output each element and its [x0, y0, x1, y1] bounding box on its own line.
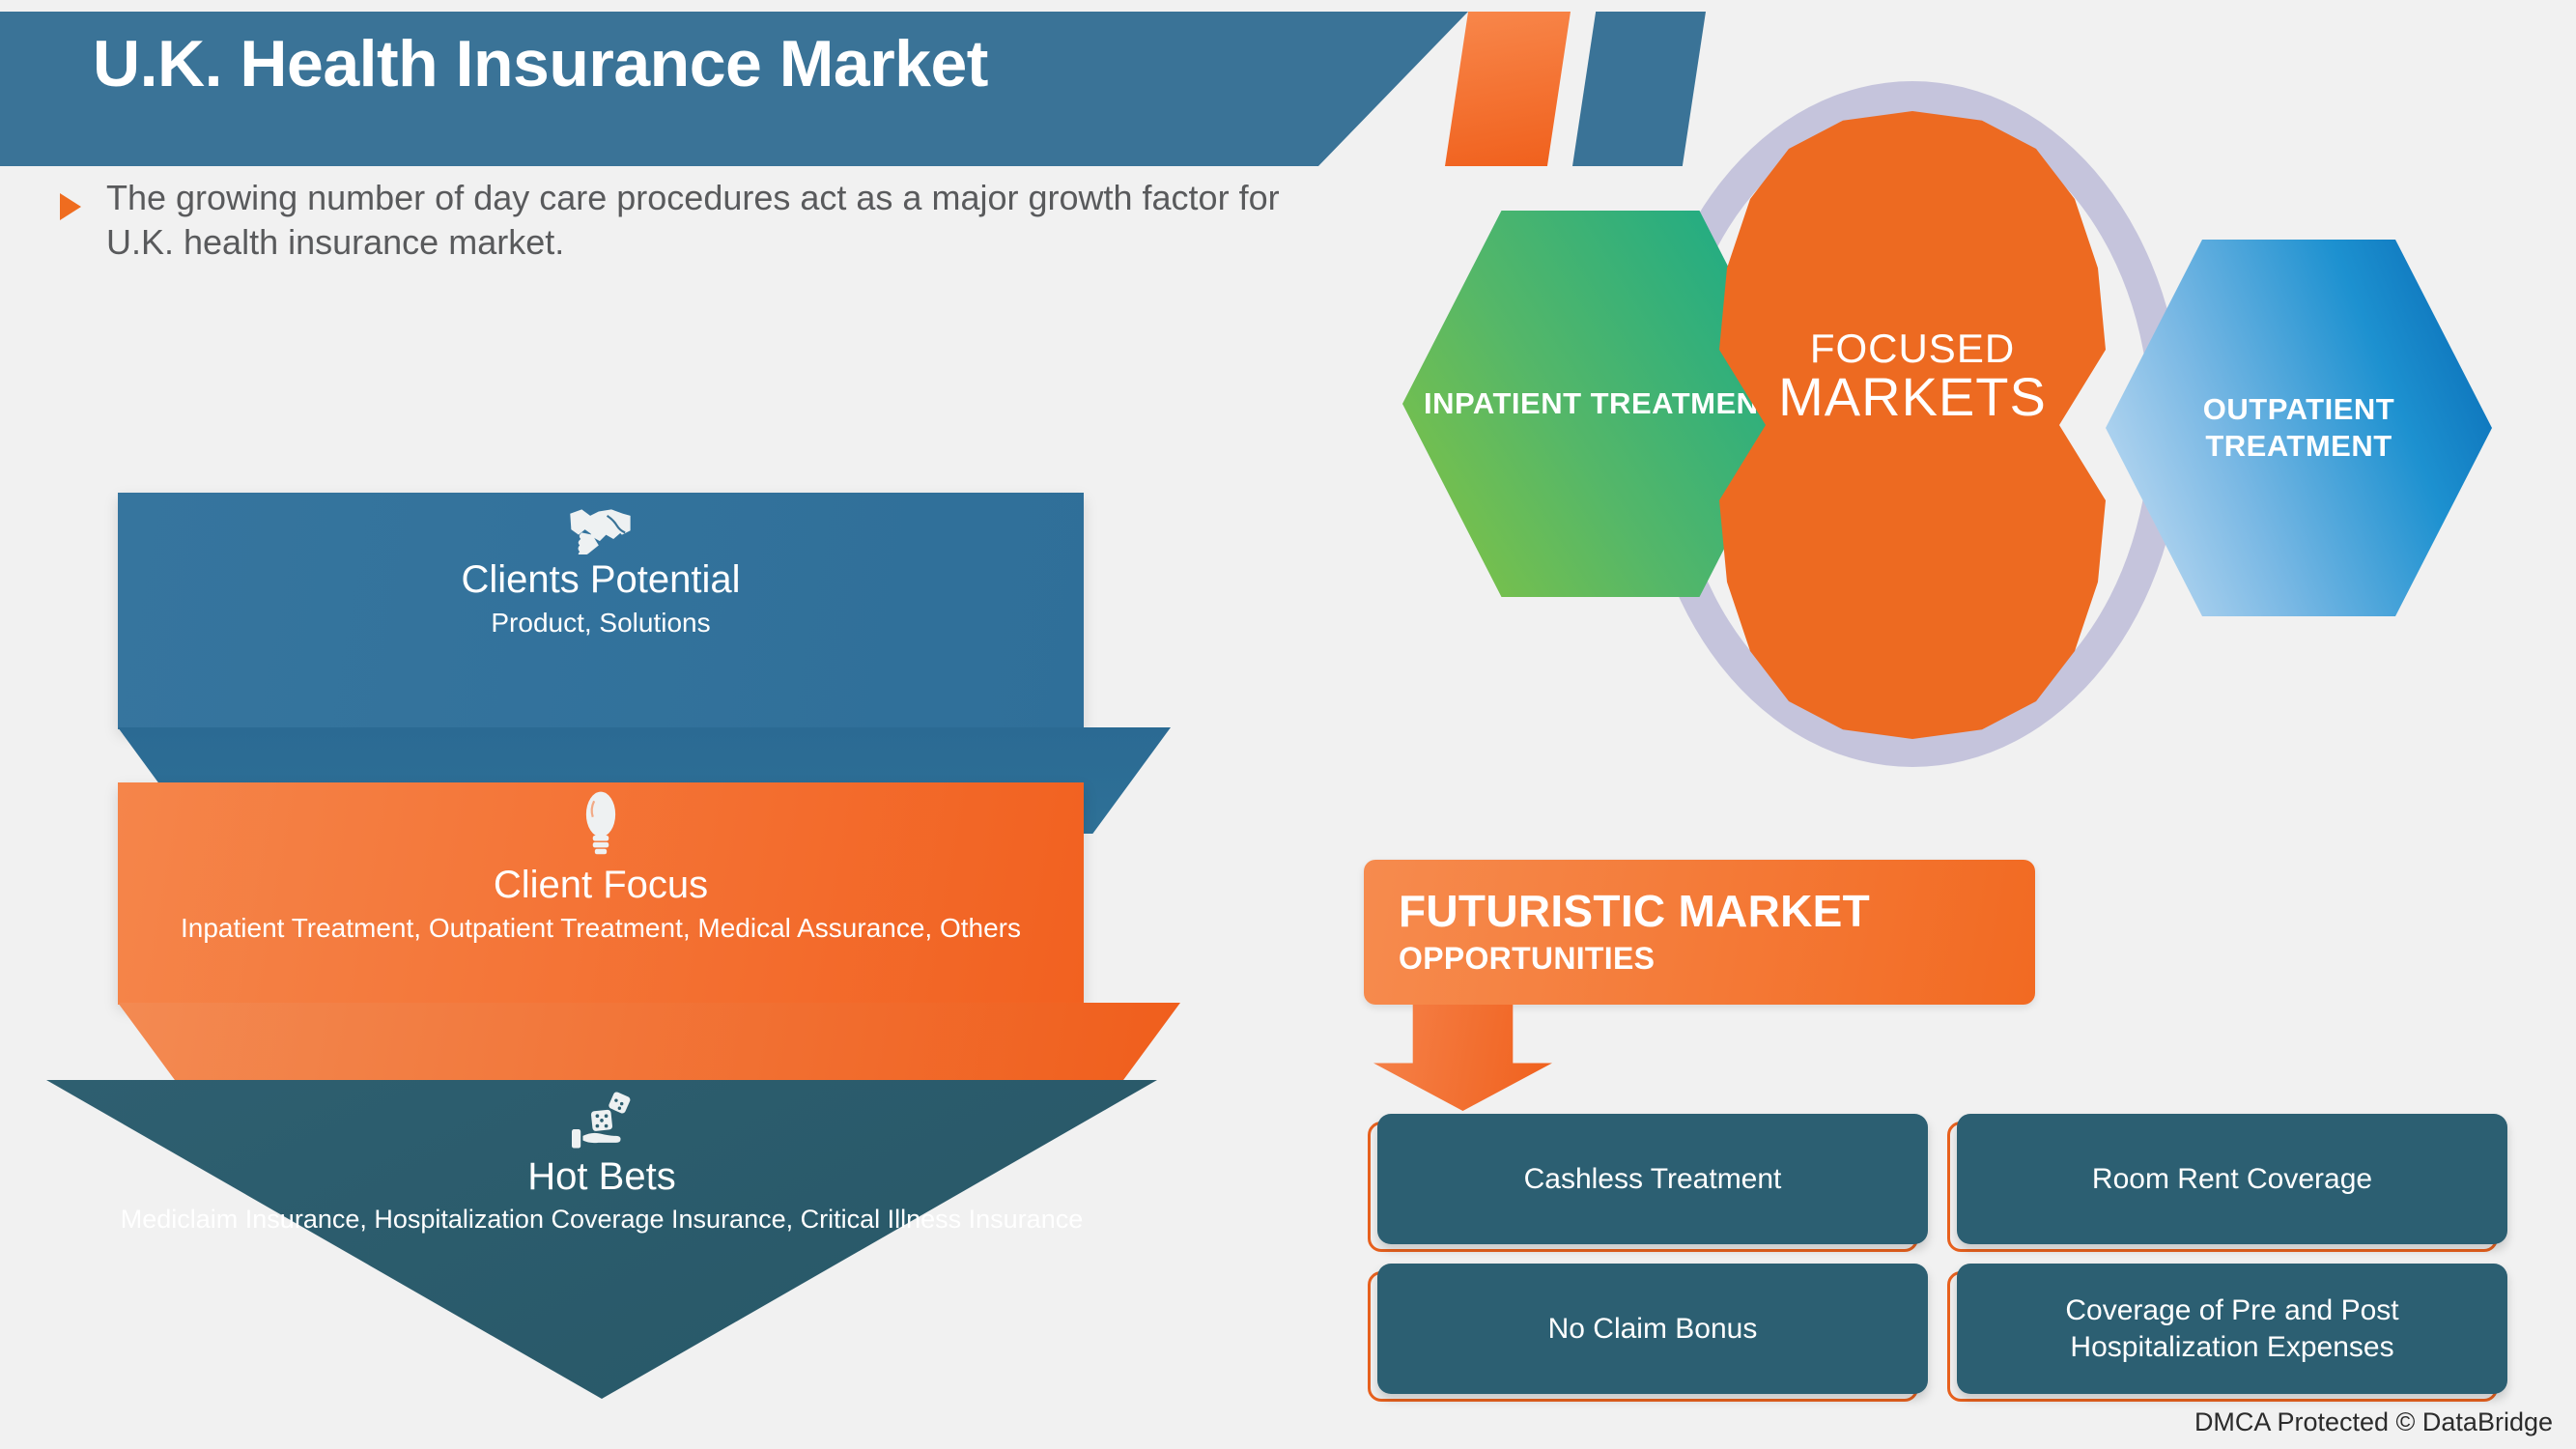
futuristic-market-line1: FUTURISTIC MARKET	[1399, 885, 1870, 937]
copyright-note: DMCA Protected © DataBridge	[2194, 1407, 2553, 1437]
opportunity-card-label: Room Rent Coverage	[1957, 1114, 2507, 1244]
futuristic-market-banner: FUTURISTIC MARKET OPPORTUNITIES	[1364, 860, 2035, 1005]
opportunity-card-label: Cashless Treatment	[1377, 1114, 1928, 1244]
down-arrow-icon	[1373, 1005, 1552, 1111]
focused-markets-line1: FOCUSED	[1719, 328, 2106, 369]
opportunity-card-label: Coverage of Pre and Post Hospitalization…	[1957, 1264, 2507, 1394]
funnel-segment-1-title: Clients Potential	[118, 558, 1084, 601]
hex-focused-markets-label: FOCUSED MARKETS	[1719, 328, 2106, 426]
opportunity-card-label: No Claim Bonus	[1377, 1264, 1928, 1394]
funnel-segment-2-subtitle: Inpatient Treatment, Outpatient Treatmen…	[118, 912, 1084, 945]
triangle-right-icon	[60, 193, 81, 220]
page-title: U.K. Health Insurance Market	[93, 31, 1397, 97]
opportunity-card[interactable]: Coverage of Pre and Post Hospitalization…	[1947, 1264, 2498, 1394]
funnel-segment-2-title: Client Focus	[118, 864, 1084, 906]
focused-markets-line2: MARKETS	[1719, 369, 2106, 426]
funnel-segment-3-content: Hot Bets Mediclaim Insurance, Hospitaliz…	[46, 1092, 1157, 1236]
funnel-segment-2-content: Client Focus Inpatient Treatment, Outpat…	[118, 790, 1084, 945]
subtitle-block: The growing number of day care procedure…	[60, 176, 1345, 265]
opportunity-card[interactable]: No Claim Bonus	[1368, 1264, 1918, 1394]
funnel-segment-1-content: Clients Potential Product, Solutions	[118, 502, 1084, 639]
funnel-segment-3-title: Hot Bets	[46, 1155, 1157, 1198]
hex-outpatient-label: OUTPATIENT TREATMENT	[2106, 391, 2492, 465]
futuristic-market-line2: OPPORTUNITIES	[1399, 941, 1655, 977]
opportunity-card[interactable]: Cashless Treatment	[1368, 1114, 1918, 1244]
funnel-segment-3-subtitle: Mediclaim Insurance, Hospitalization Cov…	[46, 1204, 1157, 1236]
header-stripe-blue	[1572, 12, 1706, 166]
lightbulb-icon	[580, 790, 622, 860]
focused-markets-diagram: INPATIENT TREATMENT OUTPATIENT TREATMENT…	[1333, 58, 2569, 821]
opportunity-card[interactable]: Room Rent Coverage	[1947, 1114, 2498, 1244]
subtitle-text: The growing number of day care procedure…	[106, 176, 1345, 265]
infographic-slide: U.K. Health Insurance Market The growing…	[0, 0, 2576, 1449]
funnel-segment-1-subtitle: Product, Solutions	[118, 607, 1084, 639]
hand-dice-icon	[568, 1092, 636, 1151]
handshake-icon	[567, 502, 635, 554]
